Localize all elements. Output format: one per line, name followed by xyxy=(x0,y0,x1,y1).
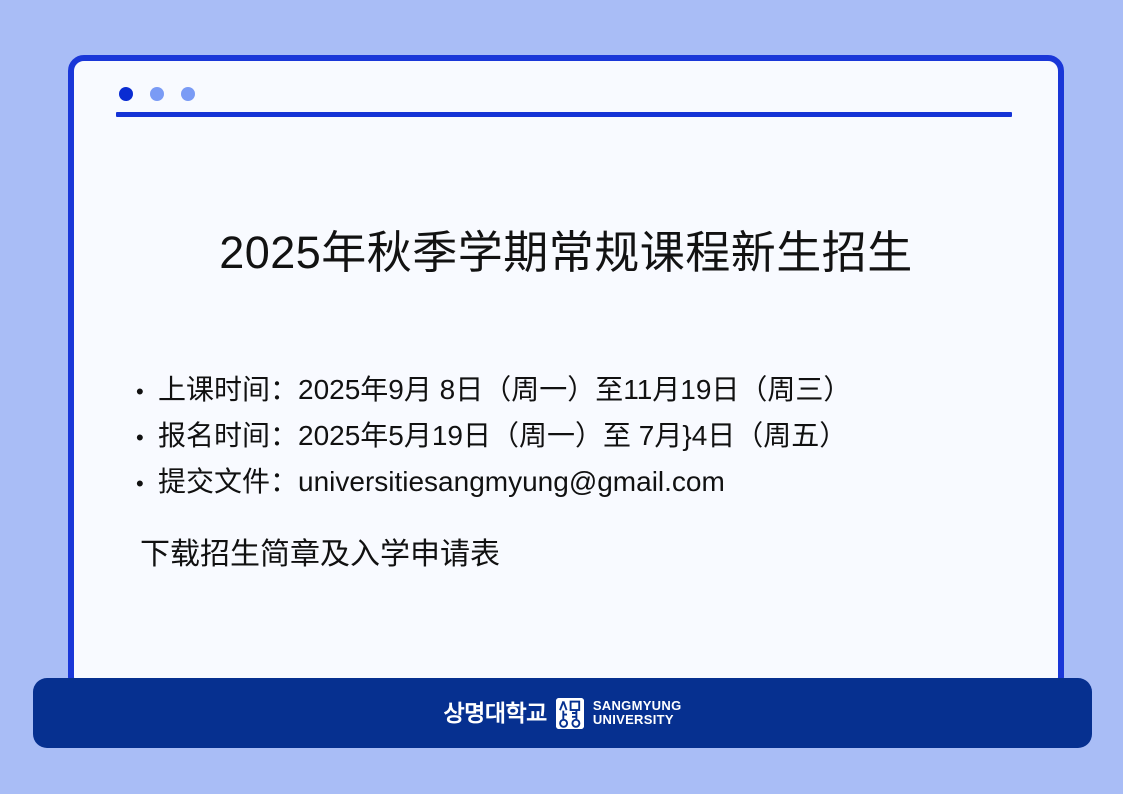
logo-korean-name: 상명대학교 xyxy=(444,702,547,725)
sangmyung-emblem-icon xyxy=(556,698,584,729)
bullet-list: • 上课时间：2025年9月 8日（周一）至11月19日（周三） • 报名时间：… xyxy=(136,368,1036,506)
window-dot-3[interactable] xyxy=(181,87,195,101)
window-dot-1[interactable] xyxy=(119,87,133,101)
header-divider xyxy=(116,112,1012,117)
footer-bar: 상명대학교 xyxy=(33,678,1092,748)
class-schedule-text: 上课时间：2025年9月 8日（周一）至11月19日（周三） xyxy=(158,368,851,412)
page-title: 2025年秋季学期常规课程新生招生 xyxy=(74,227,1058,279)
submission-email-text: 提交文件：universitiesangmyung@gmail.com xyxy=(158,460,725,504)
logo-english-line-2: UNIVERSITY xyxy=(593,713,682,727)
logo-english-name: SANGMYUNG UNIVERSITY xyxy=(593,699,682,727)
bullet-marker-icon: • xyxy=(136,462,158,506)
bullet-marker-icon: • xyxy=(136,370,158,414)
window-dot-2[interactable] xyxy=(150,87,164,101)
list-item: • 报名时间：2025年5月19日（周一）至 7月}4日（周五） xyxy=(136,414,1036,460)
logo-english-line-1: SANGMYUNG xyxy=(593,699,682,713)
list-item: • 上课时间：2025年9月 8日（周一）至11月19日（周三） xyxy=(136,368,1036,414)
bullet-marker-icon: • xyxy=(136,416,158,460)
list-item: • 提交文件：universitiesangmyung@gmail.com xyxy=(136,460,1036,506)
slide-stage: 2025年秋季学期常规课程新生招生 • 上课时间：2025年9月 8日（周一）至… xyxy=(0,0,1123,794)
presentation-card: 2025年秋季学期常规课程新生招生 • 上课时间：2025年9月 8日（周一）至… xyxy=(68,55,1064,693)
window-dots xyxy=(119,87,195,101)
university-logo: 상명대학교 xyxy=(444,696,682,730)
download-materials-text: 下载招生简章及入学申请表 xyxy=(140,537,500,573)
application-period-text: 报名时间：2025年5月19日（周一）至 7月}4日（周五） xyxy=(158,414,847,458)
card-content: 2025年秋季学期常规课程新生招生 • 上课时间：2025年9月 8日（周一）至… xyxy=(74,61,1058,687)
